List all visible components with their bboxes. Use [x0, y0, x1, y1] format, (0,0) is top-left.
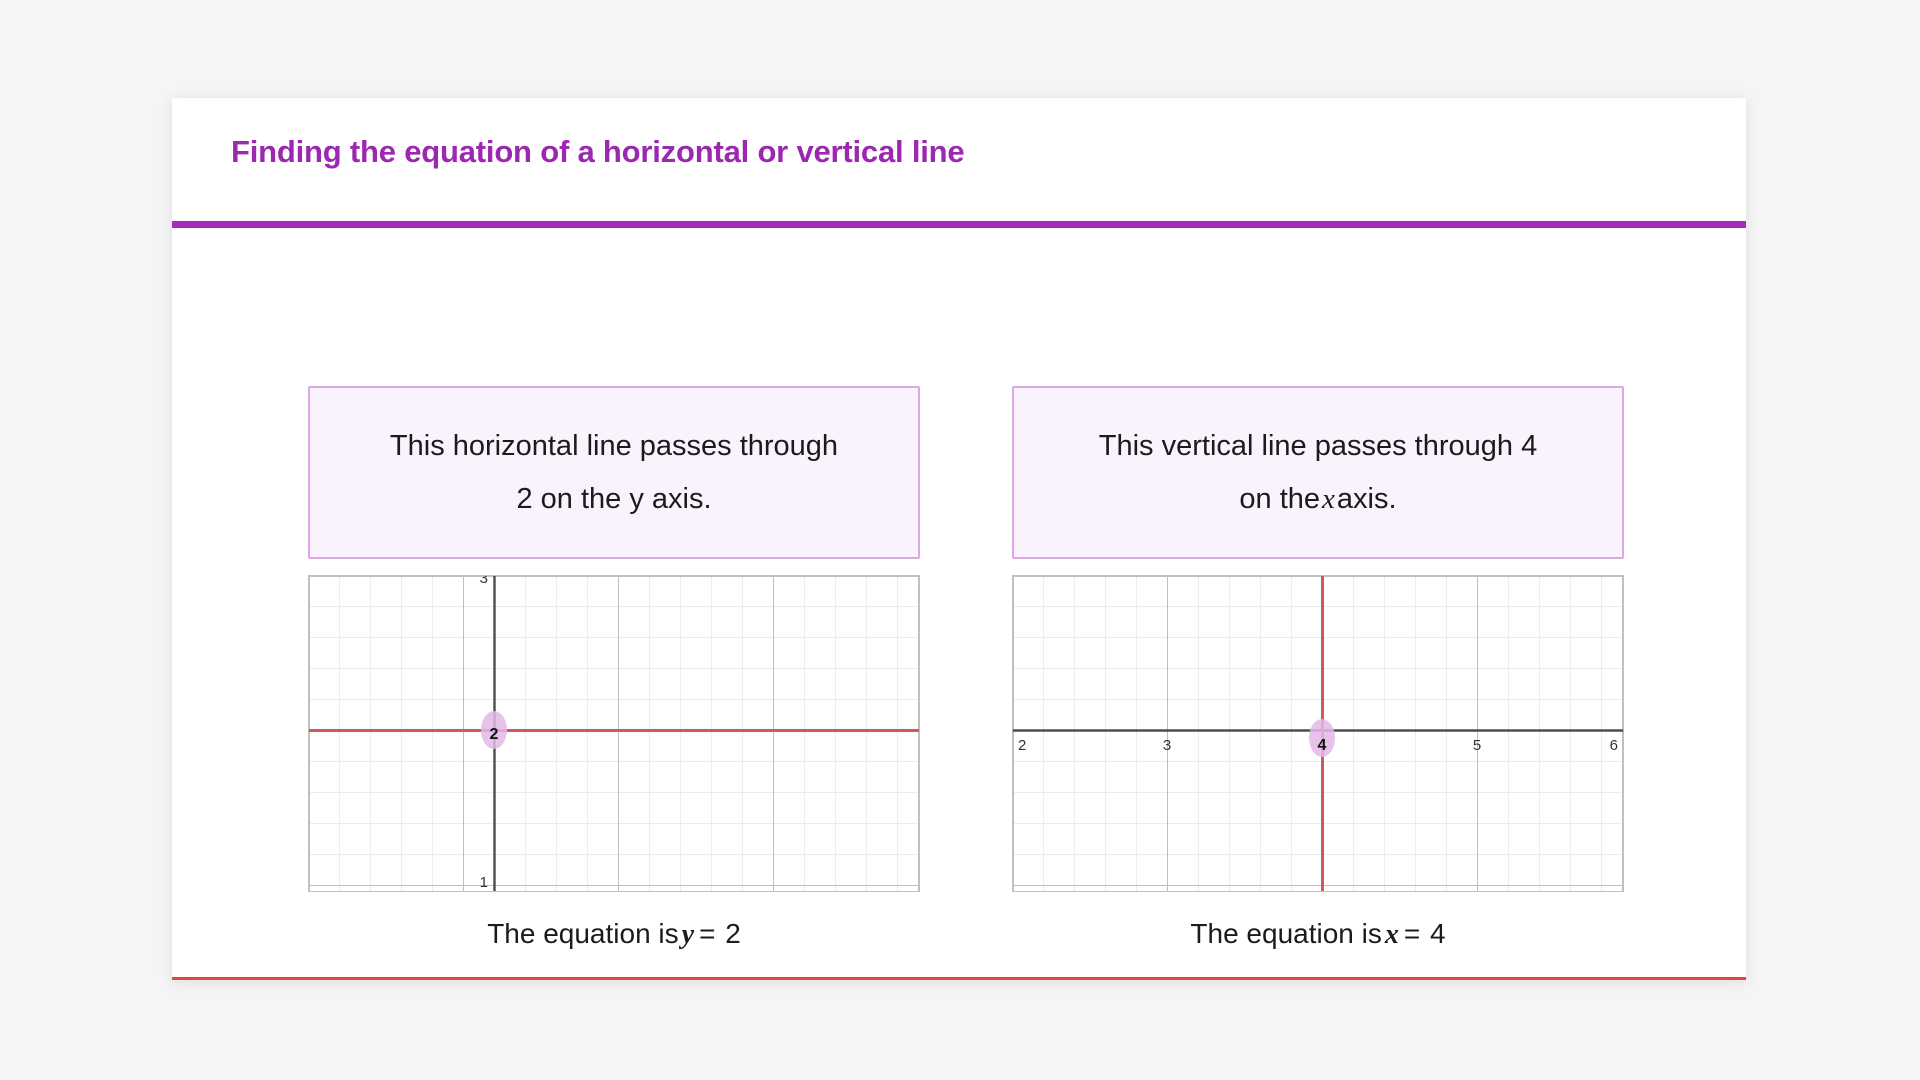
graph-vertical-svg: 4 2 3 5 6: [1012, 575, 1624, 892]
y-tick-label-2: 2: [490, 726, 499, 743]
x-tick-label-6: 6: [1610, 737, 1618, 754]
page-root: Finding the equation of a horizontal or …: [0, 0, 1920, 1080]
callout-vertical-line: This vertical line passes through 4 on t…: [1012, 386, 1624, 559]
callout-horizontal-text: This horizontal line passes through 2 on…: [390, 420, 838, 526]
callout-horizontal-line1: This horizontal line passes through: [390, 430, 838, 462]
callout-horizontal-line2: 2 on the y axis.: [516, 483, 711, 515]
x-tick-label-3: 3: [1163, 737, 1171, 754]
callout-vertical-line1: This vertical line passes through 4: [1099, 430, 1537, 462]
page-title: Finding the equation of a horizontal or …: [231, 134, 964, 170]
y-tick-label-1: 1: [480, 874, 488, 891]
caption-horizontal-variable: y: [679, 919, 697, 950]
caption-vertical-value: 4: [1430, 918, 1446, 949]
graph-horizontal-line: 2 3 1: [308, 575, 920, 892]
lesson-card: Finding the equation of a horizontal or …: [172, 98, 1746, 980]
caption-vertical-equals: =: [1402, 918, 1422, 949]
callout-horizontal-line: This horizontal line passes through 2 on…: [308, 386, 920, 559]
caption-horizontal-prefix: The equation is: [487, 918, 678, 949]
callout-vertical-variable: x: [1320, 483, 1337, 515]
x-tick-label-5: 5: [1473, 737, 1481, 754]
card-bottom-accent-rule: [172, 977, 1746, 980]
callout-vertical-text: This vertical line passes through 4 on t…: [1099, 420, 1537, 526]
caption-horizontal-equals: =: [697, 918, 717, 949]
y-tick-label-3: 3: [480, 575, 488, 587]
caption-vertical-variable: x: [1382, 919, 1402, 950]
caption-vertical-equation: The equation isx= 4: [1012, 918, 1624, 951]
graph-horizontal-svg: 2 3 1: [308, 575, 920, 892]
caption-horizontal-equation: The equation isy= 2: [308, 918, 920, 951]
graph-vertical-line: 4 2 3 5 6: [1012, 575, 1624, 892]
examples-container: This horizontal line passes through 2 on…: [172, 228, 1746, 978]
title-divider-rule: [172, 221, 1746, 228]
x-tick-label-2: 2: [1018, 737, 1026, 754]
x-tick-label-4: 4: [1318, 737, 1327, 754]
graph-background: [308, 575, 920, 892]
callout-vertical-line2-suffix: axis.: [1337, 483, 1397, 515]
callout-vertical-line2-prefix: on the: [1239, 483, 1320, 515]
caption-vertical-prefix: The equation is: [1190, 918, 1381, 949]
caption-horizontal-value: 2: [725, 918, 741, 949]
